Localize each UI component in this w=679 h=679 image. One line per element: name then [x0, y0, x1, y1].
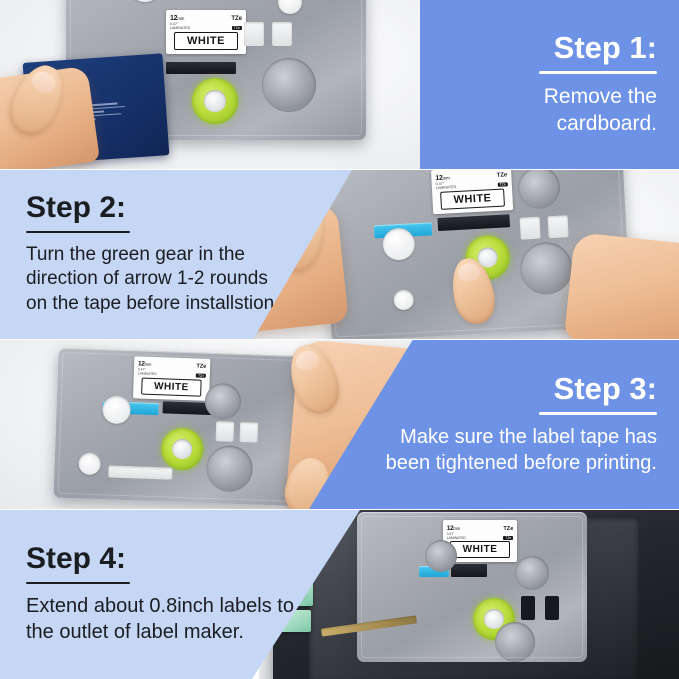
gear-center: [204, 90, 225, 111]
label-laminated: LAMINATED: [436, 185, 456, 190]
cartridge-slot-a: [244, 22, 264, 46]
step-2-row: 12mm TZe 0.47" LAMINATED TZe WHITE: [0, 170, 679, 339]
tape-cartridge: 12mm TZe 0.47" LAMINATED TZe WHITE: [357, 512, 587, 662]
step-1-photo: 12mm TZe 0.47" LAMINATED TZe WHITE: [0, 0, 420, 169]
label-tze-badge: TZe: [232, 26, 242, 30]
cartridge-slot-b: [240, 422, 259, 443]
cartridge-label: 12mm TZe 0.47" LAMINATED TZe WHITE: [166, 10, 246, 54]
label-sub-row: 0.47": [134, 367, 210, 374]
cartridge-label: 12mm TZe 0.47" LAMINATED TZe WHITE: [133, 356, 210, 401]
green-gear: [473, 598, 515, 640]
step-4-row: 12mm TZe 0.47" LAMINATED TZe WHITE: [0, 510, 679, 679]
cartridge-hub-left: [382, 227, 416, 261]
tape-dark-strip: [451, 564, 487, 577]
label-laminated: LAMINATED: [138, 371, 157, 376]
step-3-row: 12mm TZe 0.47" LAMINATED TZe WHITE: [0, 340, 679, 509]
label-color-name: WHITE: [440, 188, 505, 209]
cartridge-opening-b: [545, 596, 559, 620]
tape-dark-strip: [162, 401, 214, 415]
label-inches: 0.47": [436, 181, 444, 185]
label-top-row: 12mm TZe: [443, 525, 517, 532]
step-1-heading: Step 1:: [554, 32, 657, 63]
label-color-name: WHITE: [450, 541, 510, 558]
cartridge-hub-right: [515, 556, 549, 590]
label-tape-size: 12mm: [435, 174, 449, 182]
cartridge-hub-right: [262, 58, 316, 112]
label-laminated-row: LAMINATED TZe: [443, 536, 517, 540]
cartridge-hub-small: [278, 0, 302, 14]
cartridge-slot-a: [520, 217, 541, 240]
cartridge-hub-upper: [204, 383, 241, 420]
label-top-row: 12mm TZe: [431, 171, 511, 182]
finger-nail: [294, 348, 322, 373]
step-2-underline: [26, 231, 130, 233]
label-inches: 0.47": [138, 367, 146, 371]
step-3-underline: [539, 412, 657, 415]
step-1-text-block: Step 1: Remove the cardboard.: [420, 0, 679, 169]
label-tze-badge: TZe: [196, 373, 206, 377]
cartridge-opening-a: [521, 596, 535, 620]
instruction-sheet: 12mm TZe 0.47" LAMINATED TZe WHITE: [0, 0, 679, 679]
cartridge-hub-small: [393, 289, 414, 310]
gear-center: [172, 439, 192, 459]
cartridge-hub-right: [206, 445, 254, 493]
cartridge-hub-left: [102, 395, 131, 424]
label-color-name: WHITE: [141, 378, 202, 397]
cartridge-slot-a: [216, 421, 235, 442]
cartridge-hub-small: [78, 452, 101, 475]
step-3-heading: Step 3:: [554, 373, 657, 404]
label-laminated-row: LAMINATED TZe: [134, 371, 210, 378]
label-laminated-row: LAMINATED TZe: [166, 26, 246, 30]
cartridge-slot-b: [548, 215, 569, 238]
label-tape-size: 12mm: [447, 525, 460, 532]
label-top-row: 12mm TZe: [166, 15, 246, 22]
tape-dark-strip: [437, 214, 510, 231]
step-4-body: Extend about 0.8inch labels to the outle…: [26, 594, 300, 645]
tape-window: [102, 401, 158, 415]
label-sub-row: 0.47": [443, 532, 517, 536]
hand-right: [564, 232, 679, 339]
green-gear: [192, 78, 238, 124]
label-sub-row: 0.47": [432, 178, 512, 186]
step-2-body: Turn the green gear in the direction of …: [26, 243, 292, 316]
label-tape-size: 12mm: [138, 360, 151, 367]
gear-center: [484, 609, 503, 628]
label-sub-row: 0.47": [166, 22, 246, 26]
step-4-underline: [26, 582, 130, 584]
label-laminated: LAMINATED: [170, 26, 190, 30]
cartridge-hub-right: [519, 241, 574, 296]
step-4-heading: Step 4:: [26, 544, 126, 574]
label-top-row: 12mm TZe: [134, 360, 210, 370]
label-laminated: LAMINATED: [447, 536, 466, 540]
cartridge-label: 12mm TZe 0.47" LAMINATED TZe WHITE: [431, 170, 513, 214]
label-inches: 0.47": [170, 22, 178, 26]
label-inches: 0.47": [447, 532, 455, 536]
step-1-body: Remove the cardboard.: [480, 84, 657, 138]
green-gear: [161, 427, 204, 470]
tape-window: [374, 222, 433, 238]
step-1-underline: [539, 71, 657, 74]
cartridge-hub-upper: [517, 170, 561, 210]
tape-dark-strip: [166, 62, 236, 74]
label-color-name: WHITE: [174, 32, 238, 50]
cartridge-hub-upper: [128, 0, 162, 2]
cartridge-hub-lower: [495, 622, 535, 662]
tape-cartridge: 12mm TZe 0.47" LAMINATED TZe WHITE: [53, 348, 310, 507]
cartridge-hub-upper: [425, 540, 457, 572]
cartridge-tape-exit: [108, 465, 172, 479]
cartridge-slot-b: [272, 22, 292, 46]
label-tze-badge: TZe: [503, 536, 513, 540]
step-2-heading: Step 2:: [26, 193, 126, 223]
label-laminated-row: LAMINATED TZe: [432, 182, 512, 190]
label-tze-badge: TZe: [497, 182, 508, 187]
step-1-row: 12mm TZe 0.47" LAMINATED TZe WHITE: [0, 0, 679, 169]
label-tape-size: 12mm: [170, 15, 184, 22]
step-1-panel: Step 1: Remove the cardboard.: [420, 0, 679, 169]
cartridge-label: 12mm TZe 0.47" LAMINATED TZe WHITE: [443, 520, 517, 562]
finger-nail: [456, 261, 481, 283]
tape-window: [419, 566, 449, 577]
thumb-nail: [29, 68, 59, 96]
step-3-body: Make sure the label tape has been tighte…: [369, 425, 657, 476]
